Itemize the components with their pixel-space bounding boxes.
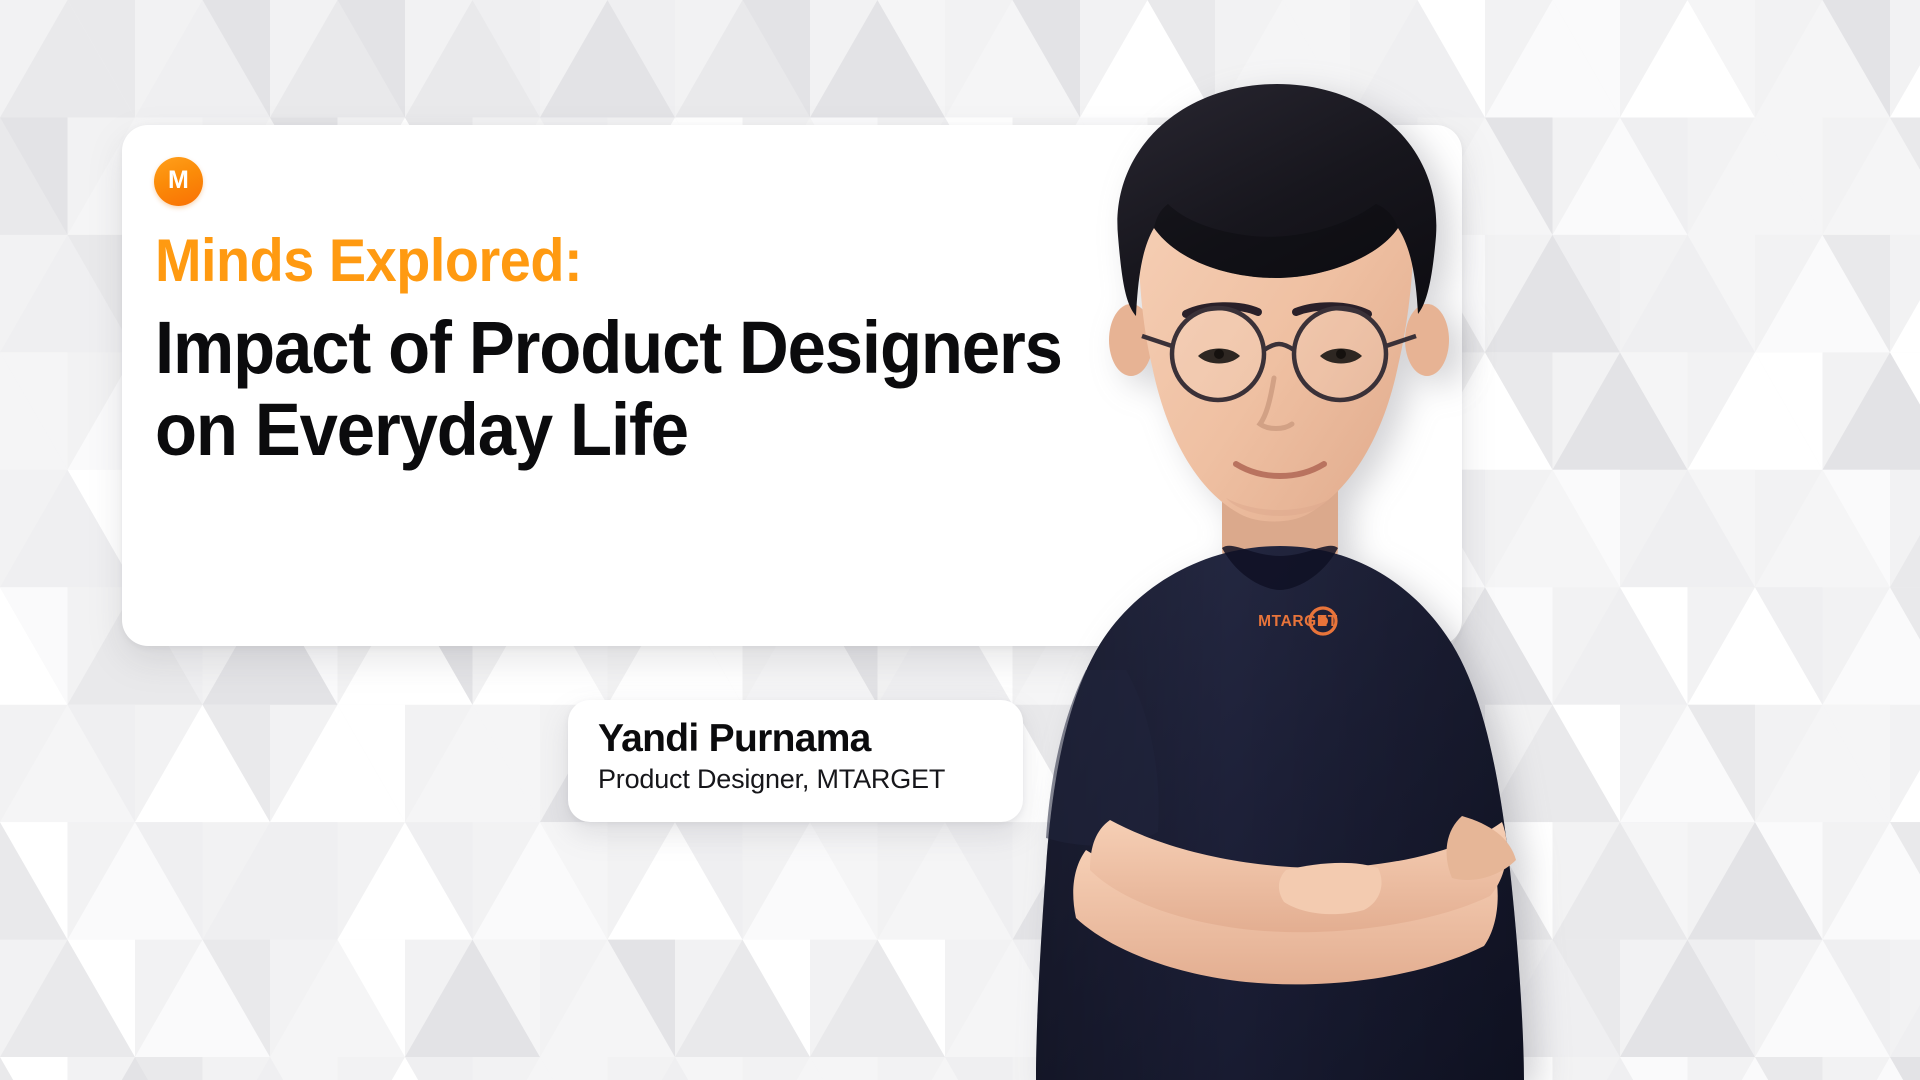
speaker-card: Yandi Purnama Product Designer, MTARGET [568, 700, 1023, 822]
poster-canvas: M Minds Explored: Impact of Product Desi… [0, 0, 1920, 1080]
hero-eyebrow: Minds Explored: [155, 231, 1048, 291]
speaker-role: Product Designer, MTARGET [598, 764, 997, 796]
speaker-name: Yandi Purnama [598, 718, 997, 760]
mtarget-logo-badge: M [154, 157, 203, 206]
hero-headline: Impact of Product Designers on Everyday … [155, 307, 1048, 471]
presenter-photo: MTARGET [990, 78, 1580, 1080]
logo-letter: M [168, 168, 189, 193]
headline-line-1: Impact of Product Designers [155, 307, 1048, 389]
hero-text-block: Minds Explored: Impact of Product Design… [155, 231, 1115, 471]
headline-line-2: on Everyday Life [155, 389, 1048, 471]
